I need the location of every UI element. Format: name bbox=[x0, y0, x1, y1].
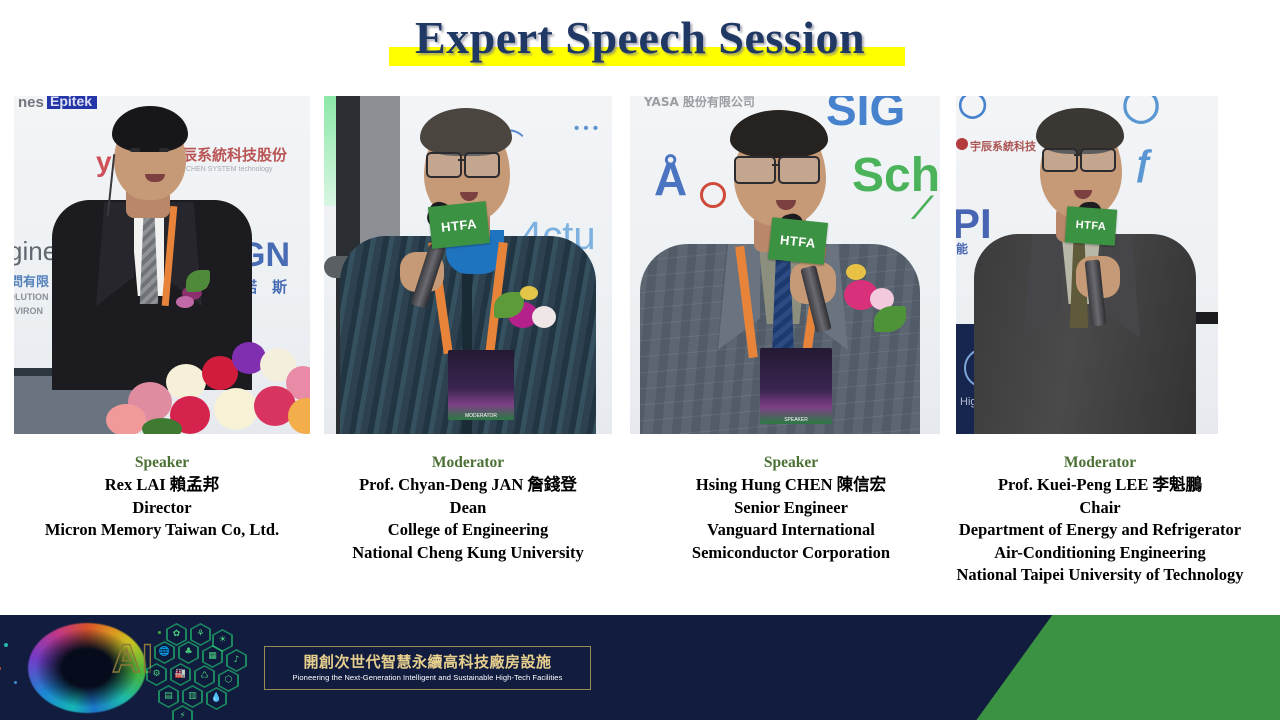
speaker-organization-2: Air-Conditioning Engineering bbox=[928, 542, 1272, 565]
eyeglasses-bridge bbox=[458, 159, 464, 161]
slogan-box: 開創次世代智慧永續高科技廠房設施 Pioneering the Next-Gen… bbox=[264, 646, 591, 690]
badge-role-text: SPEAKER bbox=[784, 417, 808, 423]
backdrop-logo-yasa: YASA 股份有限公司 bbox=[644, 96, 755, 110]
backdrop-logo-partial-top2: ◯ bbox=[1122, 96, 1160, 124]
speaker-caption-3: Speaker Hsing Hung CHEN 陳信宏 Senior Engin… bbox=[640, 452, 942, 564]
backdrop-logo-a: Å bbox=[654, 152, 687, 206]
speaker-role: Moderator bbox=[928, 452, 1272, 474]
corsage-petal bbox=[520, 286, 538, 300]
backdrop-logo-a-accent bbox=[700, 182, 726, 208]
speaker-role: Speaker bbox=[14, 452, 310, 474]
speaker-photo-row: nes Epitek 辰系統科技股份 CHEN SYSTEM technolog… bbox=[0, 96, 1280, 434]
power-icon: ⚡ bbox=[172, 705, 193, 720]
eyeglasses-right bbox=[464, 152, 500, 178]
flower-bouquet bbox=[110, 326, 310, 434]
speaker-organization-2: National Cheng Kung University bbox=[318, 542, 618, 565]
speaker-position: Director bbox=[14, 497, 310, 520]
eyeglasses-right bbox=[778, 156, 820, 184]
speaker-caption-1: Speaker Rex LAI 賴孟邦 Director Micron Memo… bbox=[14, 452, 310, 542]
backdrop-logo-engine-sub1: OLUTION bbox=[14, 292, 49, 302]
page-title: Expert Speech Session bbox=[0, 8, 1280, 68]
eyeglasses-right bbox=[1080, 148, 1116, 172]
name-badge: SPEAKER bbox=[760, 348, 832, 424]
speaker-photo-2: ⌒ • • • 4ctu bbox=[324, 96, 612, 434]
speaker-role: Moderator bbox=[318, 452, 618, 474]
backdrop-logo-epitek-label: Epitek bbox=[50, 96, 92, 109]
speaker-caption-2: Moderator Prof. Chyan-Deng JAN 詹錢登 Dean … bbox=[318, 452, 618, 564]
eye-right bbox=[159, 148, 169, 152]
backdrop-logo-chen-system: 辰系統科技股份 bbox=[182, 144, 287, 165]
bouquet-flower bbox=[166, 364, 206, 400]
backdrop-logo-epitek: nes bbox=[18, 96, 44, 111]
bouquet-flower bbox=[214, 388, 258, 430]
slide-footer: AI ✿ ⚘ ☀ 🌐 ♣ ▦ ♪ ⚙ 🏭 ♺ ⬡ ▤ ▥ 💧 ⚡ 11 bbox=[0, 615, 1280, 720]
backdrop-logo-sch-mark: ⟋ bbox=[912, 192, 933, 226]
corsage-petal bbox=[532, 306, 556, 328]
gear-icon: ⚙ bbox=[146, 663, 167, 686]
backdrop-logo-y: y bbox=[96, 146, 112, 178]
speaker-organization: Department of Energy and Refrigerator bbox=[928, 519, 1272, 542]
speaker-photo-1: nes Epitek 辰系統科技股份 CHEN SYSTEM technolog… bbox=[14, 96, 310, 434]
backdrop-logo-dots: • • • bbox=[574, 120, 598, 137]
backdrop-green-strip bbox=[324, 96, 336, 206]
factory-icon: 🏭 bbox=[170, 663, 191, 686]
water-drop-icon: 💧 bbox=[206, 687, 227, 710]
speaker-name: Prof. Kuei-Peng LEE 李魁鵬 bbox=[928, 474, 1272, 497]
speaker-caption-4: Moderator Prof. Kuei-Peng LEE 李魁鵬 Chair … bbox=[928, 452, 1272, 587]
microphone-flag: HTFA bbox=[428, 201, 490, 249]
backdrop-logo-sig: SIG bbox=[826, 96, 905, 136]
eye-particle bbox=[14, 681, 17, 684]
speaker-name: Rex LAI 賴孟邦 bbox=[14, 474, 310, 497]
bouquet-leaf bbox=[142, 418, 182, 434]
speaker-photo-3: YASA 股份有限公司 SIG Å Sch ⟋ bbox=[630, 96, 940, 434]
speaker-position: Senior Engineer bbox=[640, 497, 942, 520]
backdrop-logo-yuchen-mark bbox=[956, 138, 968, 150]
speaker-photo-4: ◯ ◯ 宇辰系統科技 ƒ PI 能 High-Tech bbox=[956, 96, 1218, 434]
badge-role-text: MODERATOR bbox=[465, 413, 497, 419]
speaker-organization: Micron Memory Taiwan Co, Ltd. bbox=[14, 519, 310, 542]
eyeglasses-bridge bbox=[1074, 154, 1080, 156]
eyeglasses-bridge bbox=[772, 164, 778, 166]
backdrop-logo-swoosh: ƒ bbox=[1134, 142, 1154, 184]
speaker-organization-2: Semiconductor Corporation bbox=[640, 542, 942, 565]
globe-icon: 🌐 bbox=[154, 641, 175, 664]
backdrop-logo-engine-sub2: NVIRON bbox=[14, 306, 43, 316]
backdrop-logo-engine: gine bbox=[14, 236, 57, 267]
eyeglasses-left bbox=[426, 152, 462, 178]
speaker-position: Dean bbox=[318, 497, 618, 520]
speaker-organization-3: National Taipei University of Technology bbox=[928, 564, 1272, 587]
speaker-role: Speaker bbox=[640, 452, 942, 474]
name-badge: MODERATOR bbox=[448, 350, 514, 420]
slogan-english: Pioneering the Next-Generation Intellige… bbox=[293, 672, 563, 684]
eyeglasses-left bbox=[1042, 148, 1078, 172]
corsage-petal bbox=[176, 296, 194, 308]
eyeglasses-left bbox=[734, 156, 776, 184]
microphone-flag: HTFA bbox=[1065, 206, 1117, 245]
backdrop-logo-engine-zh: 問有限 bbox=[14, 271, 49, 290]
corsage-petal bbox=[846, 264, 866, 280]
backdrop-logo-yuchen: 宇辰系統科技 bbox=[970, 138, 1036, 154]
hexagon-icon-cluster: ✿ ⚘ ☀ 🌐 ♣ ▦ ♪ ⚙ 🏭 ♺ ⬡ ▤ ▥ 💧 ⚡ bbox=[146, 623, 256, 719]
eye-particle bbox=[0, 667, 1, 670]
speaker-name: Hsing Hung CHEN 陳信宏 bbox=[640, 474, 942, 497]
microphone-flag: HTFA bbox=[768, 217, 828, 265]
speaker-position: Chair bbox=[928, 497, 1272, 520]
backdrop-logo-chen-system-sub: CHEN SYSTEM technology bbox=[186, 166, 272, 173]
bouquet-flower bbox=[106, 404, 146, 434]
bouquet-flower bbox=[288, 398, 310, 434]
backdrop-logo-partial-top: ◯ bbox=[958, 96, 987, 119]
slide-title-area: Expert Speech Session bbox=[0, 8, 1280, 78]
footer-green-panel bbox=[950, 615, 1280, 720]
speaker-organization: College of Engineering bbox=[318, 519, 618, 542]
eye-left bbox=[130, 148, 140, 152]
slogan-chinese: 開創次世代智慧永續高科技廠房設施 bbox=[303, 653, 551, 671]
speaker-name: Prof. Chyan-Deng JAN 詹錢登 bbox=[318, 474, 618, 497]
plant-icon: ♣ bbox=[178, 641, 199, 664]
speaker-organization: Vanguard International bbox=[640, 519, 942, 542]
backdrop-logo-pi-sub: 能 bbox=[956, 240, 968, 257]
eye-particle bbox=[4, 643, 8, 647]
